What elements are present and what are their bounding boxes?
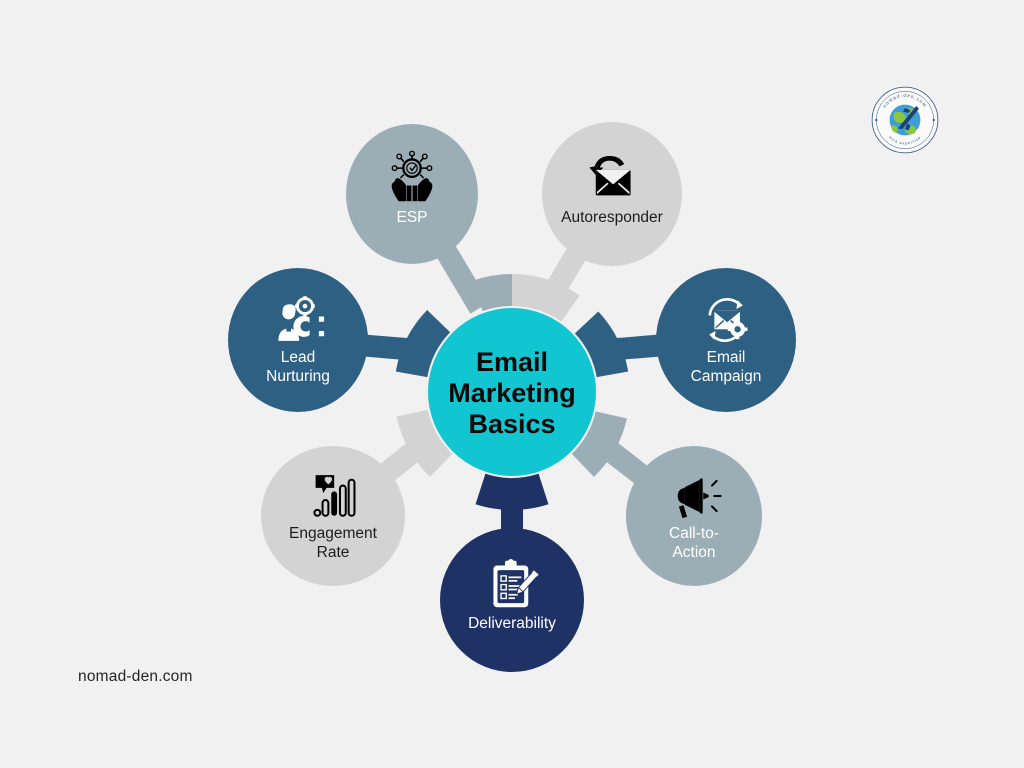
footer-website-text: nomad-den.com (78, 668, 193, 686)
node-label-email-campaign: Campaign (691, 368, 762, 385)
node-label-engagement-rate: Engagement (289, 525, 378, 542)
node-label-email-campaign: Email (707, 349, 746, 366)
infographic-canvas: EmailMarketingBasics ESP (0, 0, 1024, 768)
ring-segment-deliverability (476, 474, 549, 510)
node-circle-esp[interactable] (346, 124, 478, 264)
node-label-deliverability: Deliverability (468, 615, 556, 632)
node-label-esp: ESP (396, 209, 427, 226)
node-email-campaign[interactable]: EmailCampaign (656, 268, 796, 412)
node-label-engagement-rate: Rate (317, 544, 350, 561)
center-title-line: Marketing (448, 378, 576, 408)
node-circle-call-to-action[interactable] (626, 446, 762, 586)
node-label-lead-nurturing: Lead (281, 349, 315, 366)
node-label-call-to-action: Action (672, 544, 715, 561)
nomad-den-globe-airplane-logo: nomad-den.com asia expertise (870, 85, 940, 155)
node-call-to-action[interactable]: Call-to-Action (626, 446, 762, 586)
node-esp[interactable]: ESP (346, 124, 478, 264)
node-deliverability[interactable]: Deliverability (440, 528, 584, 672)
node-label-call-to-action: Call-to- (669, 525, 719, 542)
node-circle-engagement-rate[interactable] (261, 446, 405, 586)
node-lead-nurturing[interactable]: LeadNurturing (228, 268, 368, 412)
node-label-lead-nurturing: Nurturing (266, 368, 330, 385)
node-label-autoresponder: Autoresponder (561, 209, 663, 226)
center-title-line: Basics (468, 409, 555, 439)
node-engagement-rate[interactable]: EngagementRate (261, 446, 405, 586)
node-autoresponder[interactable]: Autoresponder (542, 122, 682, 266)
center-title-line: Email (476, 347, 548, 377)
